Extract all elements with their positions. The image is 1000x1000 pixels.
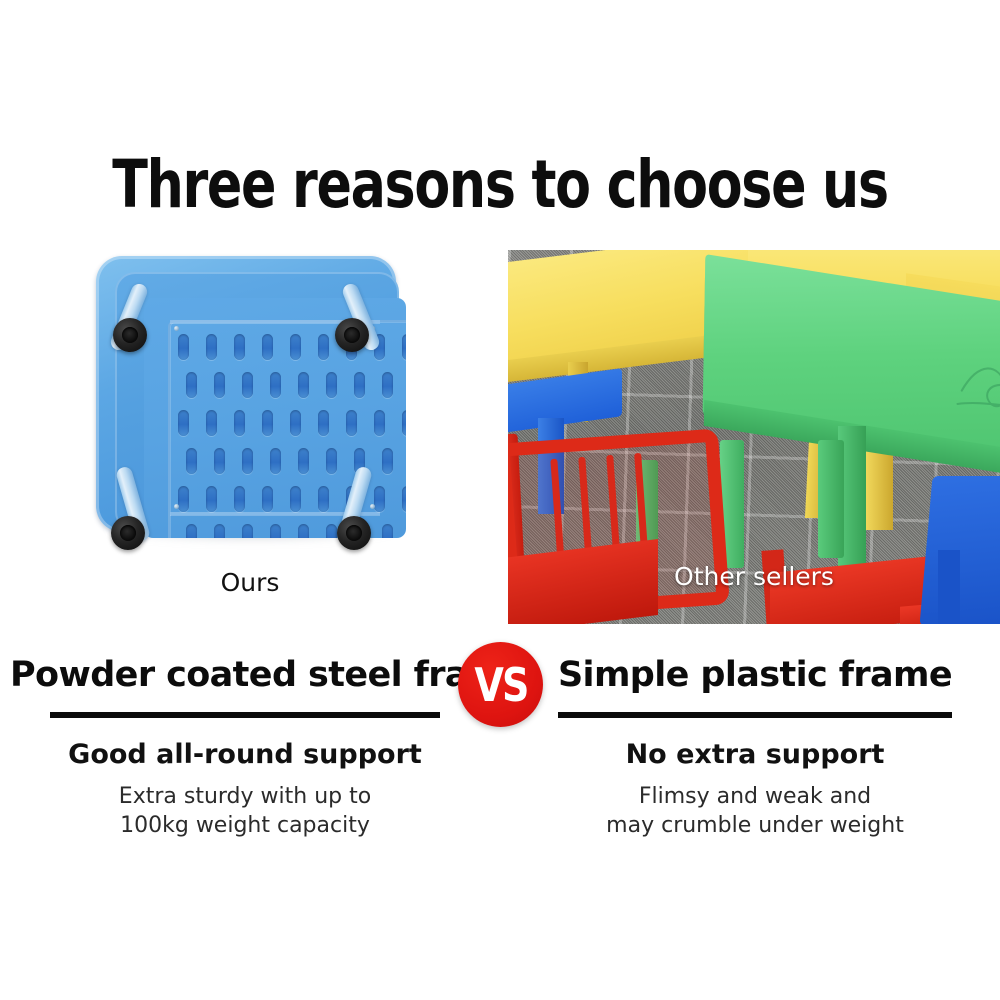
left-subheading: Good all-round support [10, 739, 480, 770]
dimple [374, 410, 385, 436]
dimple [318, 410, 329, 436]
screw-top-left [174, 326, 179, 331]
dimple [290, 334, 301, 360]
dimple [290, 486, 301, 512]
dimple [382, 448, 393, 474]
dimple [234, 486, 245, 512]
dimple [382, 524, 393, 538]
dimple [402, 334, 406, 360]
dimple [270, 448, 281, 474]
dimple [270, 372, 281, 398]
dimple [262, 410, 273, 436]
right-body-line-2: may crumble under weight [520, 811, 990, 840]
infographic-root: Three reasons to choose us [0, 0, 1000, 1000]
dimple [346, 410, 357, 436]
right-feature-column: Simple plastic frame No extra support Fl… [520, 655, 990, 840]
dimple [178, 486, 189, 512]
rubber-foot-top-left [113, 318, 147, 352]
dimple [326, 448, 337, 474]
dimple [214, 524, 225, 538]
left-body-text: Extra sturdy with up to 100kg weight cap… [10, 782, 480, 840]
dimple [270, 524, 281, 538]
dimple [242, 372, 253, 398]
dimple [326, 524, 337, 538]
ours-caption: Ours [85, 568, 415, 597]
dimple [206, 334, 217, 360]
green-table-leg-2 [818, 440, 844, 558]
rubber-foot-top-right [335, 318, 369, 352]
dimple [354, 372, 365, 398]
vs-badge: VS [458, 642, 543, 727]
dimple [186, 524, 197, 538]
screw-bottom-left [174, 504, 179, 509]
dimple [318, 334, 329, 360]
dimple [402, 486, 406, 512]
dimple [206, 410, 217, 436]
right-divider-rule [558, 712, 952, 718]
dimple [262, 486, 273, 512]
dimple [374, 486, 385, 512]
vs-badge-label: VS [474, 662, 527, 708]
dimple [214, 372, 225, 398]
dimple [326, 372, 337, 398]
left-heading: Powder coated steel frame [10, 655, 480, 695]
dimple [178, 410, 189, 436]
comparison-media-row: Ours [0, 248, 1000, 626]
left-feature-column: Powder coated steel frame Good all-round… [10, 655, 480, 840]
rubber-foot-bottom-left [111, 516, 145, 550]
dimple [178, 334, 189, 360]
dimple [262, 334, 273, 360]
dimple [234, 334, 245, 360]
dimple [186, 448, 197, 474]
dimple [206, 486, 217, 512]
right-subheading: No extra support [520, 739, 990, 770]
left-body-line-2: 100kg weight capacity [10, 811, 480, 840]
screw-bottom-right [370, 504, 375, 509]
dimple [298, 372, 309, 398]
dimple [214, 448, 225, 474]
left-body-line-1: Extra sturdy with up to [10, 782, 480, 811]
dimple [242, 448, 253, 474]
right-heading: Simple plastic frame [520, 655, 990, 695]
dimple [242, 524, 253, 538]
ours-product-image: Ours [85, 248, 415, 578]
dimple [318, 486, 329, 512]
left-divider-rule [50, 712, 440, 718]
dimple [298, 448, 309, 474]
right-body-line-1: Flimsy and weak and [520, 782, 990, 811]
right-body-text: Flimsy and weak and may crumble under we… [520, 782, 990, 840]
rubber-foot-bottom-right [337, 516, 371, 550]
dimple [290, 410, 301, 436]
dimple [382, 372, 393, 398]
other-sellers-photo: Other sellers [508, 250, 1000, 624]
dimple [402, 410, 406, 436]
dimple [234, 410, 245, 436]
dimple [298, 524, 309, 538]
other-sellers-caption: Other sellers [508, 562, 1000, 591]
page-title: Three reasons to choose us [60, 146, 940, 223]
dimple [186, 372, 197, 398]
